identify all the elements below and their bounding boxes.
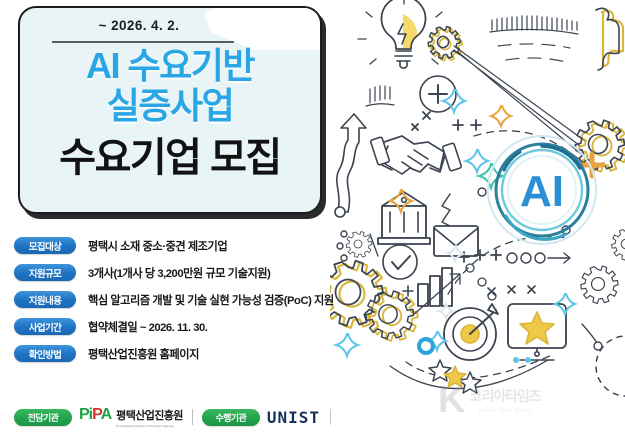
info-label-badge: 지원내용 bbox=[14, 291, 76, 308]
arrow-up-icon bbox=[335, 114, 366, 217]
pipa-mark-1: Pi bbox=[79, 406, 92, 423]
gear-icon bbox=[346, 232, 372, 258]
fan-lines bbox=[490, 16, 578, 62]
managing-org-badge: 전담기관 bbox=[14, 409, 72, 426]
gear-icon bbox=[581, 266, 618, 303]
info-row-지원규모: 지원규모 3개사(1개사 당 3,200만원 규모 기술지원) bbox=[14, 259, 334, 286]
performing-org-badge: 수행기관 bbox=[202, 409, 260, 426]
info-label-badge: 사업기간 bbox=[14, 318, 76, 335]
unist-logo: UNIST bbox=[267, 408, 320, 427]
motion-lines bbox=[366, 86, 394, 106]
date-underline bbox=[52, 41, 234, 43]
pipa-name-en: Pyeongtaek Industry Promotion Agency bbox=[116, 424, 183, 428]
info-row-모집대상: 모집대상 평택시 소재 중소·중견 제조기업 bbox=[14, 232, 334, 259]
dot-arrow bbox=[507, 253, 570, 263]
gear-icon bbox=[612, 229, 625, 260]
info-row-사업기간: 사업기간 협약체결일 ~ 2026. 11. 30. bbox=[14, 313, 334, 340]
info-label-badge: 지원규모 bbox=[14, 264, 76, 281]
solid-orbit bbox=[390, 324, 616, 389]
title-black: 수요기업 모집 bbox=[20, 136, 320, 180]
x-marks bbox=[412, 112, 481, 130]
pipa-wordmark: 평택산업진흥원 Pyeongtaek Industry Promotion Ag… bbox=[116, 407, 183, 428]
footer-divider bbox=[192, 409, 193, 425]
ai-label: AI bbox=[520, 167, 564, 216]
info-value: 평택산업진흥원 홈페이지 bbox=[88, 346, 199, 362]
info-label-badge: 확인방법 bbox=[14, 345, 76, 362]
info-row-확인방법: 확인방법 평택산업진흥원 홈페이지 bbox=[14, 340, 334, 367]
info-label-badge: 모집대상 bbox=[14, 237, 76, 254]
info-row-지원내용: 지원내용 핵심 알고리즘 개발 및 기술 실현 가능성 검증(PoC) 지원 bbox=[14, 286, 334, 313]
pipa-logo: PiPA 평택산업진흥원 Pyeongtaek Industry Promoti… bbox=[79, 406, 183, 428]
check-circle-icon bbox=[383, 245, 417, 279]
envelope-icon bbox=[434, 226, 478, 256]
pipa-mark-3: A bbox=[101, 406, 112, 423]
footer-organizations: 전담기관 PiPA 평택산업진흥원 Pyeongtaek Industry Pr… bbox=[14, 404, 331, 430]
bank-building-icon bbox=[378, 192, 430, 244]
header-card: ~ 2026. 4. 2. AI 수요기반 실증사업 수요기업 모집 bbox=[18, 6, 326, 219]
pipa-name-kr: 평택산업진흥원 bbox=[116, 407, 183, 423]
info-list: 모집대상 평택시 소재 중소·중견 제조기업 지원규모 3개사(1개사 당 3,… bbox=[14, 232, 334, 367]
pipa-logo-mark: PiPA bbox=[79, 406, 111, 424]
title-blue-line2: 실증사업 bbox=[20, 86, 320, 126]
info-value: 협약체결일 ~ 2026. 11. 30. bbox=[88, 319, 207, 335]
info-value: 핵심 알고리즘 개발 및 기술 실현 가능성 검증(PoC) 지원 bbox=[88, 292, 334, 308]
illustration-panel: AI bbox=[330, 0, 625, 414]
application-deadline: ~ 2026. 4. 2. bbox=[20, 18, 320, 33]
handshake-icon bbox=[370, 136, 461, 174]
footer-divider-end bbox=[330, 409, 331, 425]
title-blue-line1: AI 수요기반 bbox=[86, 45, 254, 86]
info-value: 평택시 소재 중소·중견 제조기업 bbox=[88, 238, 227, 254]
beam-lines bbox=[454, 46, 592, 158]
title-blue: AI 수요기반 실증사업 bbox=[20, 46, 320, 126]
info-value: 3개사(1개사 당 3,200만원 규모 기술지원) bbox=[88, 265, 270, 281]
pipa-mark-2: P bbox=[92, 406, 100, 423]
poster-root: AI ~ 2026. 4. 2. AI 수요기반 실증사업 수요기업 모집 모집… bbox=[0, 0, 625, 434]
card-face: ~ 2026. 4. 2. AI 수요기반 실증사업 수요기업 모집 bbox=[18, 6, 322, 214]
monitor-star-icon bbox=[508, 304, 566, 360]
